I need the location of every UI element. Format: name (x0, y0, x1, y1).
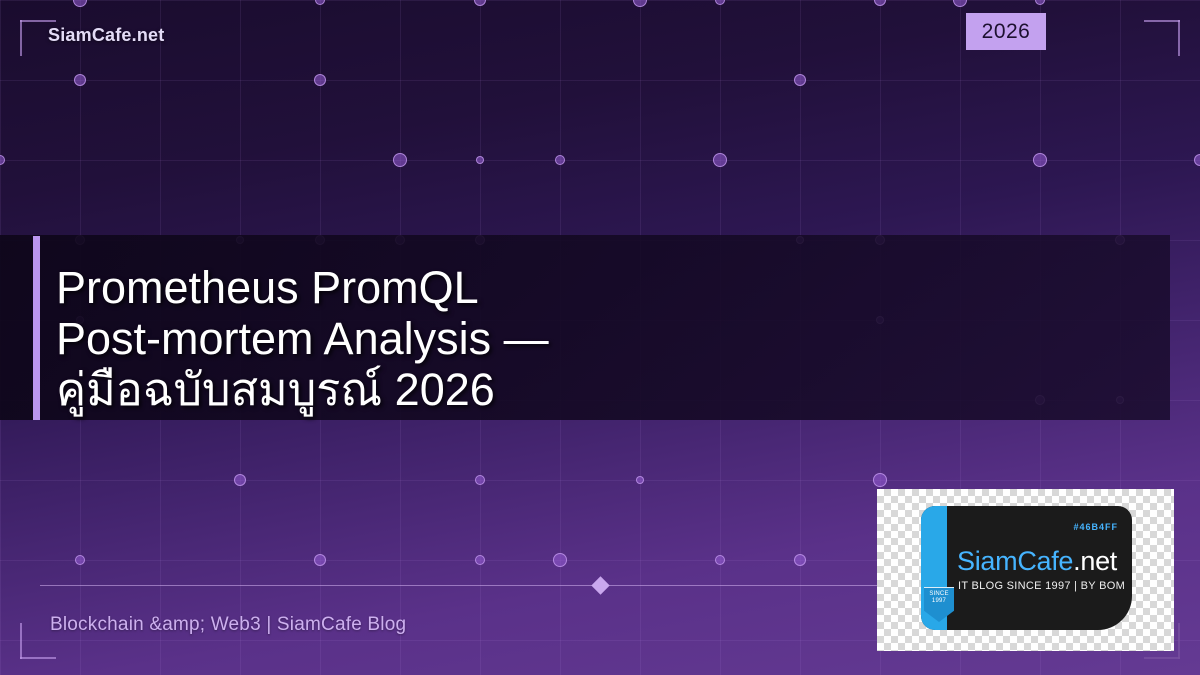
background-node-dot (475, 475, 485, 485)
background-node-dot (75, 555, 85, 565)
background-node-dot (1033, 153, 1047, 167)
background-node-dot (393, 153, 407, 167)
background-node-dot (1035, 0, 1045, 5)
page-title: Prometheus PromQL Post-mortem Analysis —… (56, 262, 1146, 415)
background-node-dot (794, 554, 806, 566)
logo-wordmark: SiamCafe.net (957, 546, 1117, 577)
background-node-dot (874, 0, 886, 6)
background-node-dot (314, 74, 326, 86)
background-node-dot (555, 155, 565, 165)
logo-card: SINCE 1997 #46B4FF SiamCafe.net IT BLOG … (877, 489, 1174, 651)
shield-year-label: 1997 (932, 598, 946, 605)
footer-category-label: Blockchain &amp; Web3 | SiamCafe Blog (50, 614, 406, 636)
background-node-dot (315, 0, 325, 5)
logo-tld-label: .net (1073, 546, 1117, 576)
site-name-label: SiamCafe.net (48, 25, 164, 46)
year-badge-label: 2026 (982, 20, 1031, 44)
background-node-dot (476, 156, 484, 164)
background-node-dot (794, 74, 806, 86)
background-node-dot (953, 0, 967, 7)
background-node-dot (633, 0, 647, 7)
corner-bracket-top-right-icon (1144, 20, 1180, 56)
hero-banner: SiamCafe.net 2026 Prometheus PromQL Post… (0, 0, 1200, 675)
background-node-dot (0, 155, 5, 165)
logo-hex-code-label: #46B4FF (1073, 522, 1118, 532)
logo-tagline-label: IT BLOG SINCE 1997 | BY BOM (958, 580, 1125, 592)
divider-diamond-icon (591, 576, 609, 594)
background-node-dot (475, 555, 485, 565)
logo-brand-label: SiamCafe (957, 546, 1073, 576)
background-node-dot (73, 0, 87, 7)
title-accent-bar (33, 236, 40, 420)
background-node-dot (1194, 154, 1200, 166)
year-badge: 2026 (966, 13, 1046, 50)
background-node-dot (636, 476, 644, 484)
background-node-dot (873, 473, 887, 487)
logo-badge: SINCE 1997 #46B4FF SiamCafe.net IT BLOG … (921, 506, 1132, 630)
shield-since-label: SINCE (929, 591, 948, 598)
background-node-dot (553, 553, 567, 567)
background-node-dot (234, 474, 246, 486)
background-node-dot (74, 74, 86, 86)
background-node-dot (314, 554, 326, 566)
background-node-dot (474, 0, 486, 6)
background-node-dot (715, 0, 725, 5)
background-node-dot (715, 555, 725, 565)
background-node-dot (713, 153, 727, 167)
